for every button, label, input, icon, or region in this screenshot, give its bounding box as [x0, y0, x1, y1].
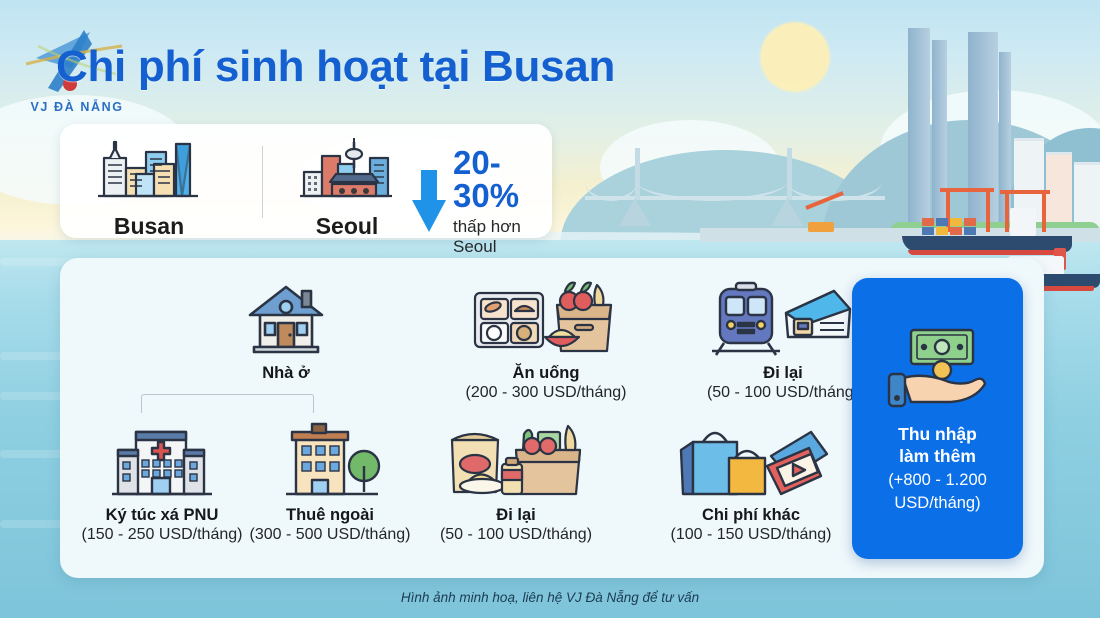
- compare-city-seoul: Seoul: [272, 138, 422, 240]
- shopping-bags-tickets-icon: [644, 418, 858, 504]
- grocery-bag-icon: [416, 418, 616, 504]
- compare-city-busan: Busan: [74, 138, 224, 240]
- cost-item-groceries: Đi lại (50 - 100 USD/tháng): [416, 418, 616, 544]
- apartment-tree-icon: [240, 418, 420, 504]
- cost-item-label: Ký túc xá PNU: [72, 506, 252, 525]
- cost-item-other: Chi phí khác (100 - 150 USD/tháng): [644, 418, 858, 544]
- income-amount-line1: (+800 - 1.200: [888, 470, 987, 491]
- house-icon: [166, 276, 406, 362]
- page-title: Chi phí sinh hoạt tại Busan: [56, 42, 615, 92]
- side-income-card: Thu nhập làm thêm (+800 - 1.200 USD/thán…: [852, 278, 1023, 559]
- compare-city-label: Busan: [74, 213, 224, 240]
- percent-caption: thấp hơn Seoul: [453, 217, 552, 257]
- cost-item-label: Ăn uống: [422, 364, 670, 383]
- cost-item-dormitory: Ký túc xá PNU (150 - 250 USD/tháng): [72, 418, 252, 544]
- logo-text: VJ ĐÀ NẴNG: [18, 100, 136, 114]
- percent-value: 20-30%: [453, 146, 552, 212]
- percent-difference-block: 20-30% thấp hơn Seoul: [412, 146, 552, 257]
- cost-item-housing: Nhà ở: [166, 276, 406, 384]
- arrow-down-icon: [412, 170, 441, 234]
- container-ship-icon: [892, 218, 1092, 248]
- footer-note: Hình ảnh minh hoạ, liên hệ VJ Đà Nẵng để…: [0, 590, 1100, 605]
- cost-item-amount: (200 - 300 USD/tháng): [422, 384, 670, 402]
- cost-item-label: Thuê ngoài: [240, 506, 420, 525]
- compare-city-label: Seoul: [272, 213, 422, 240]
- cost-item-label: Đi lại: [416, 506, 616, 525]
- city-comparison-card: Busan: [60, 124, 552, 238]
- sun-icon: [760, 22, 830, 92]
- cost-item-amount: (150 - 250 USD/tháng): [72, 526, 252, 544]
- bento-groceries-icon: [422, 276, 670, 362]
- cost-item-food: Ăn uống (200 - 300 USD/tháng): [422, 276, 670, 402]
- hand-holding-money-icon: [879, 322, 997, 418]
- infographic-canvas: VJ ĐÀ NẴNG Chi phí sinh hoạt tại Busan: [0, 0, 1100, 618]
- mobile-crane-icon: [806, 206, 846, 232]
- cost-item-label: Nhà ở: [166, 364, 406, 383]
- cost-item-amount: (300 - 500 USD/tháng): [240, 526, 420, 544]
- skyscraper-icon: [908, 28, 930, 240]
- compare-divider: [262, 146, 263, 218]
- cost-item-amount: (100 - 150 USD/tháng): [644, 526, 858, 544]
- dormitory-icon: [72, 418, 252, 504]
- income-title-line2: làm thêm: [899, 446, 976, 468]
- cost-item-rent: Thuê ngoài (300 - 500 USD/tháng): [240, 418, 420, 544]
- cost-item-amount: (50 - 100 USD/tháng): [416, 526, 616, 544]
- cost-item-label: Chi phí khác: [644, 506, 858, 525]
- seoul-skyline-icon: [272, 138, 422, 207]
- income-amount-line2: USD/tháng): [894, 493, 980, 514]
- housing-bracket: [141, 394, 314, 413]
- busan-skyline-icon: [74, 138, 224, 207]
- income-title-line1: Thu nhập: [898, 424, 977, 446]
